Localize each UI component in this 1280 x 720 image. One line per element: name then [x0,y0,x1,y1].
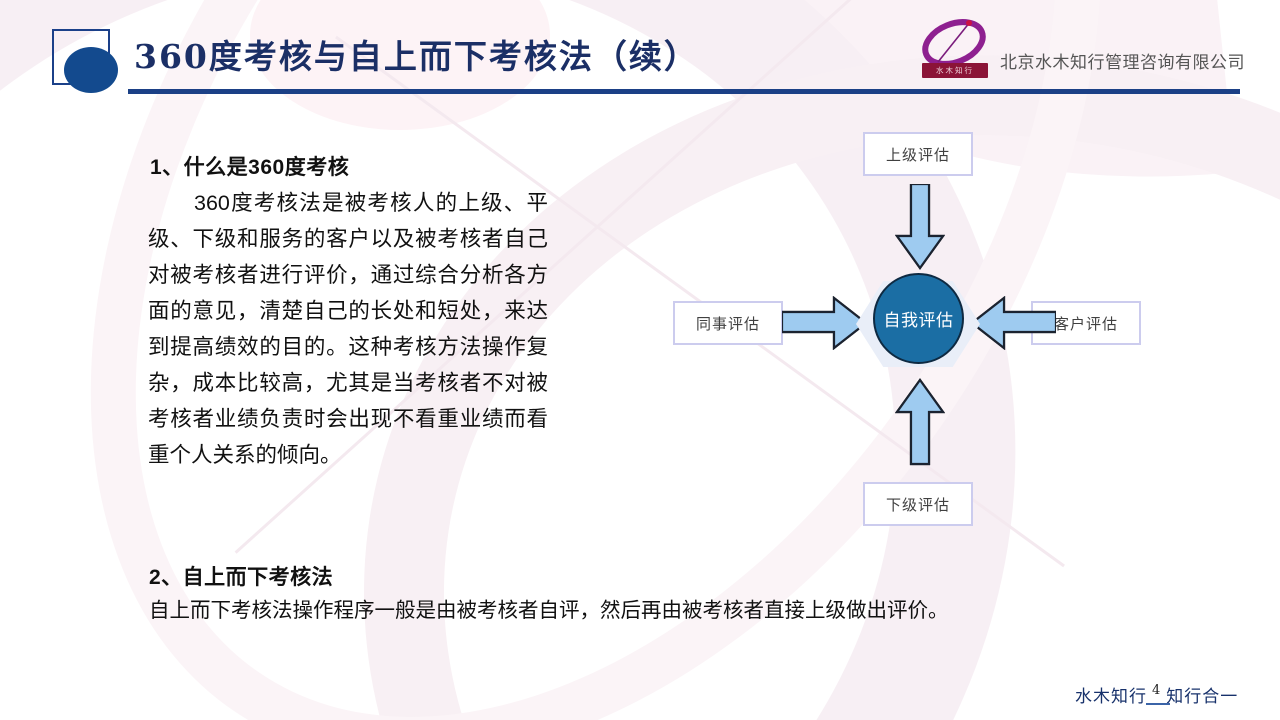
company-name: 北京水木知行管理咨询有限公司 [1000,48,1245,73]
section-2-body: 自上而下考核法操作程序一般是由被考核者自评，然后再由被考核者直接上级做出评价。 [149,596,1049,626]
section-1-heading: 1、什么是360度考核 [150,151,349,181]
eval-box-subordinate[interactable]: 下级评估 [863,482,973,526]
slide-canvas: 360度考核与自上而下考核法（续） 水木知行 北京水木知行管理咨询有限公司 1、… [0,0,1280,720]
footer-brand-left: 水木知行 [1075,682,1147,707]
arrow-left-icon [970,296,1056,350]
page-number: 4 [1149,683,1164,698]
section-2-heading: 2、自上而下考核法 [149,561,333,591]
section-1-body: 360度考核法是被考核人的上级、平级、下级和服务的客户以及被考核者自己对被考核者… [148,185,548,473]
arrow-down-icon [895,184,945,270]
slide-header: 360度考核与自上而下考核法（续） 水木知行 北京水木知行管理咨询有限公司 [0,0,1280,104]
page-title: 360度考核与自上而下考核法（续） [134,30,699,78]
footer-underline [1146,703,1170,705]
header-ellipse-decoration [64,47,118,93]
header-divider [128,89,1240,94]
logo-banner: 水木知行 [922,63,988,78]
evaluation-diagram: 上级评估 同事评估 客户评估 下级评估 自我 [660,118,1180,542]
footer-brand-right: 知行合一 [1166,682,1238,707]
eval-box-superior[interactable]: 上级评估 [863,132,973,176]
company-logo-icon: 水木知行 [918,18,994,80]
arrow-up-icon [895,376,945,466]
eval-box-peer[interactable]: 同事评估 [673,301,783,345]
logo-banner-text: 水木知行 [922,64,988,77]
center-node-self-evaluation[interactable]: 自我评估 [873,273,964,364]
arrow-right-icon [782,296,868,350]
